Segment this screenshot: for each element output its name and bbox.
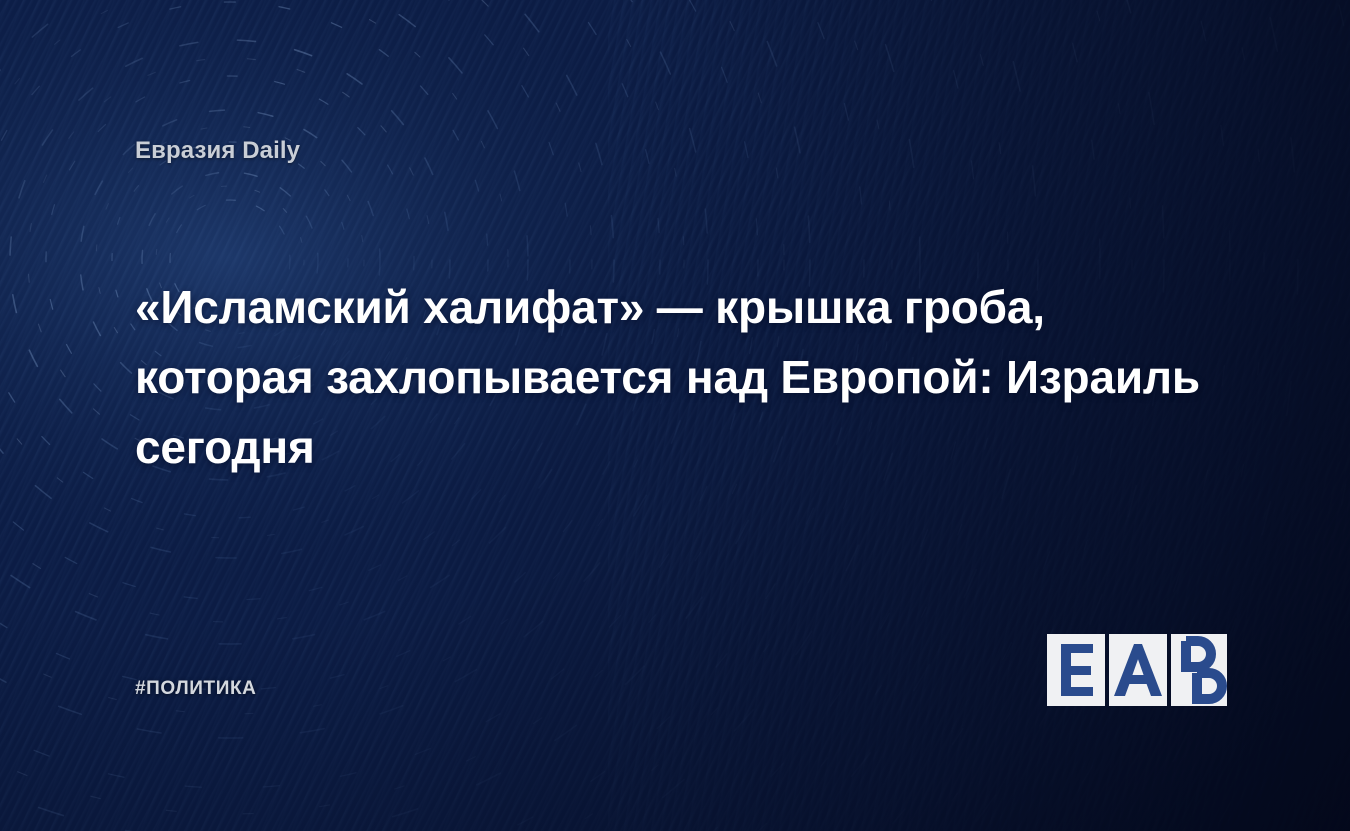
page-title: «Исламский халифат» — крышка гроба, кото… (135, 272, 1225, 482)
card-content: Евразия Daily «Исламский халифат» — крыш… (0, 0, 1350, 831)
brand-name: Евразия Daily (135, 137, 300, 165)
news-card: Евразия Daily «Исламский халифат» — крыш… (0, 0, 1350, 831)
eadaily-logo[interactable] (1047, 634, 1227, 706)
category-hashtag[interactable]: #ПОЛИТИКА (135, 678, 257, 700)
